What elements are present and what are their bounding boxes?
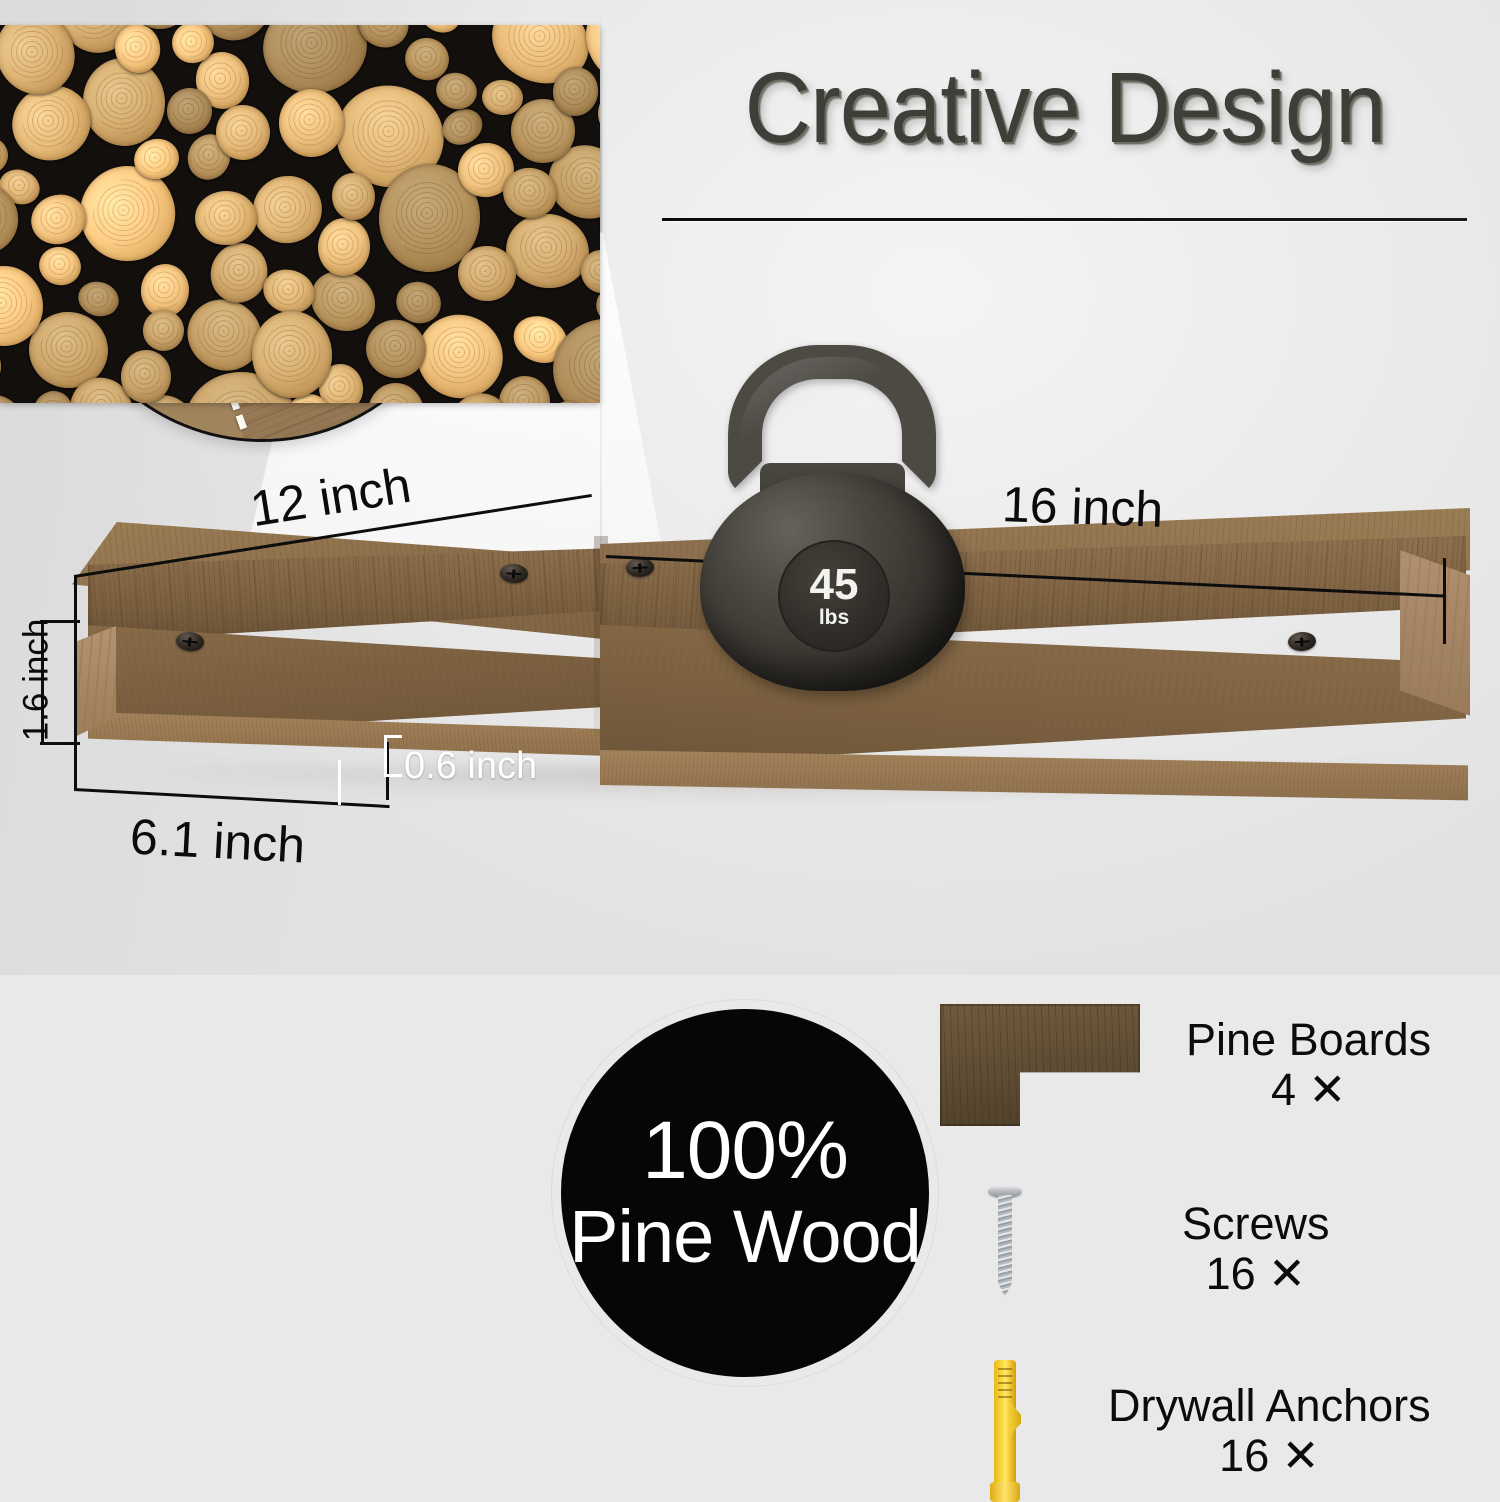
kettlebell-weight-value: 45 [810,564,859,605]
dim-label-1-6inch: 1.6 inch [16,619,56,742]
dim-bracket-06inch [384,735,387,777]
material-badge-material: Pine Wood [569,1198,921,1276]
log-cross-section [29,387,77,403]
list-item: Screws 16 ✕ [988,1185,1330,1313]
parts-list: Pine Boards 4 ✕ Screws 16 ✕ Drywall [930,1000,1490,1500]
dim-tick-61inch-left [74,640,77,790]
dim-tick-16inch-right [1443,558,1446,644]
screw-shaft [998,1195,1012,1297]
kettlebell-weight-unit: lbs [819,607,849,628]
dim-label-0-6inch: 0.6 inch [404,745,537,788]
screw-icon [988,1185,1022,1313]
material-badge-percent: 100% [642,1110,848,1192]
log-cross-section [457,246,516,303]
dim-hairline-06inch [338,760,341,805]
part-label: Drywall Anchors [1108,1381,1431,1431]
anchor-base [990,1482,1020,1502]
dim-label-6-1inch: 6.1 inch [129,807,307,874]
dim-label-16inch: 16 inch [1001,475,1164,539]
material-badge: 100% Pine Wood [552,1000,938,1386]
part-label: Pine Boards [1186,1015,1431,1065]
title-underline [662,218,1467,221]
dim-bracket-06inch-bottom [384,774,402,777]
kettlebell-weight-disc: 45 lbs [778,540,890,652]
pine-board-icon [940,1004,1140,1126]
part-label: Screws [1182,1199,1330,1249]
log-cross-section [195,191,258,246]
part-quantity: 4 ✕ [1186,1065,1431,1115]
log-cross-section [366,381,427,403]
part-quantity: 16 ✕ [1108,1431,1431,1481]
kettlebell-icon: 45 lbs [700,345,965,690]
anchor-ribs [998,1368,1012,1402]
log-cross-section [414,25,466,39]
part-quantity: 16 ✕ [1182,1249,1330,1299]
log-cross-section [316,215,373,277]
list-item: Pine Boards 4 ✕ [940,1004,1431,1126]
dim-tick-12inch-left [74,576,77,644]
log-cross-section [0,388,29,403]
log-cross-section [278,89,345,158]
firewood-photo [0,25,600,403]
dim-bracket-06inch-top [384,735,402,738]
log-cross-section [138,305,189,355]
page-title: Creative Design [692,58,1437,158]
log-cross-section [494,372,553,403]
drywall-anchor-icon [990,1360,1020,1502]
log-cross-section [35,242,85,290]
infographic-canvas: Creative Design 90 ° 90 degrees [0,0,1500,1500]
list-item: Drywall Anchors 16 ✕ [990,1360,1431,1502]
screw-icon [1287,631,1316,652]
shelf-right-front-edge [600,750,1468,820]
